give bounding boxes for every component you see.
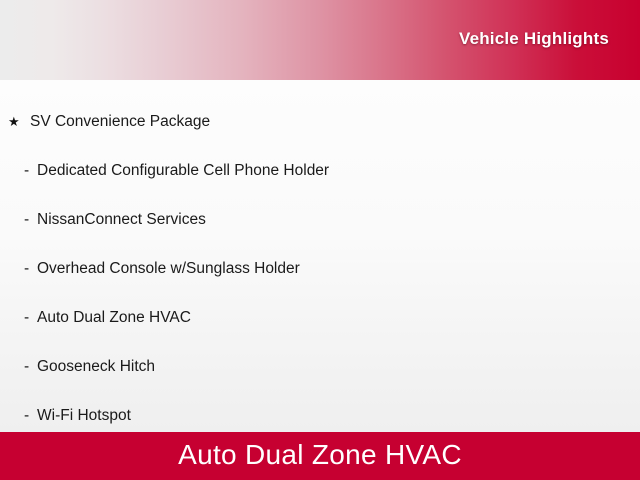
list-item: -Wi-Fi Hotspot [0, 391, 640, 432]
highlights-content-area: ★SV Convenience Package-Dedicated Config… [0, 80, 640, 432]
list-item: -Auto Dual Zone HVAC [0, 293, 640, 342]
footer-caption-bar: Auto Dual Zone HVAC [0, 432, 640, 480]
page-title: Vehicle Highlights [459, 29, 640, 51]
list-item: ★SV Convenience Package [0, 97, 640, 146]
list-item: -Dedicated Configurable Cell Phone Holde… [0, 146, 640, 195]
list-item-label: Wi-Fi Hotspot [37, 391, 131, 432]
list-item-label: SV Convenience Package [30, 97, 210, 146]
list-item-label: Gooseneck Hitch [37, 342, 155, 391]
footer-caption-text: Auto Dual Zone HVAC [178, 439, 462, 473]
list-item: -Overhead Console w/Sunglass Holder [0, 244, 640, 293]
list-item: -NissanConnect Services [0, 195, 640, 244]
header-banner: Vehicle Highlights [0, 0, 640, 80]
list-item: -Gooseneck Hitch [0, 342, 640, 391]
vehicle-highlights-slide: Vehicle Highlights ★SV Convenience Packa… [0, 0, 640, 480]
list-item-label: Overhead Console w/Sunglass Holder [37, 244, 300, 293]
star-bullet-icon: ★ [8, 97, 25, 146]
list-item-label: Auto Dual Zone HVAC [37, 293, 191, 342]
list-item-label: Dedicated Configurable Cell Phone Holder [37, 146, 329, 195]
list-item-label: NissanConnect Services [37, 195, 206, 244]
highlights-list: ★SV Convenience Package-Dedicated Config… [0, 97, 640, 432]
